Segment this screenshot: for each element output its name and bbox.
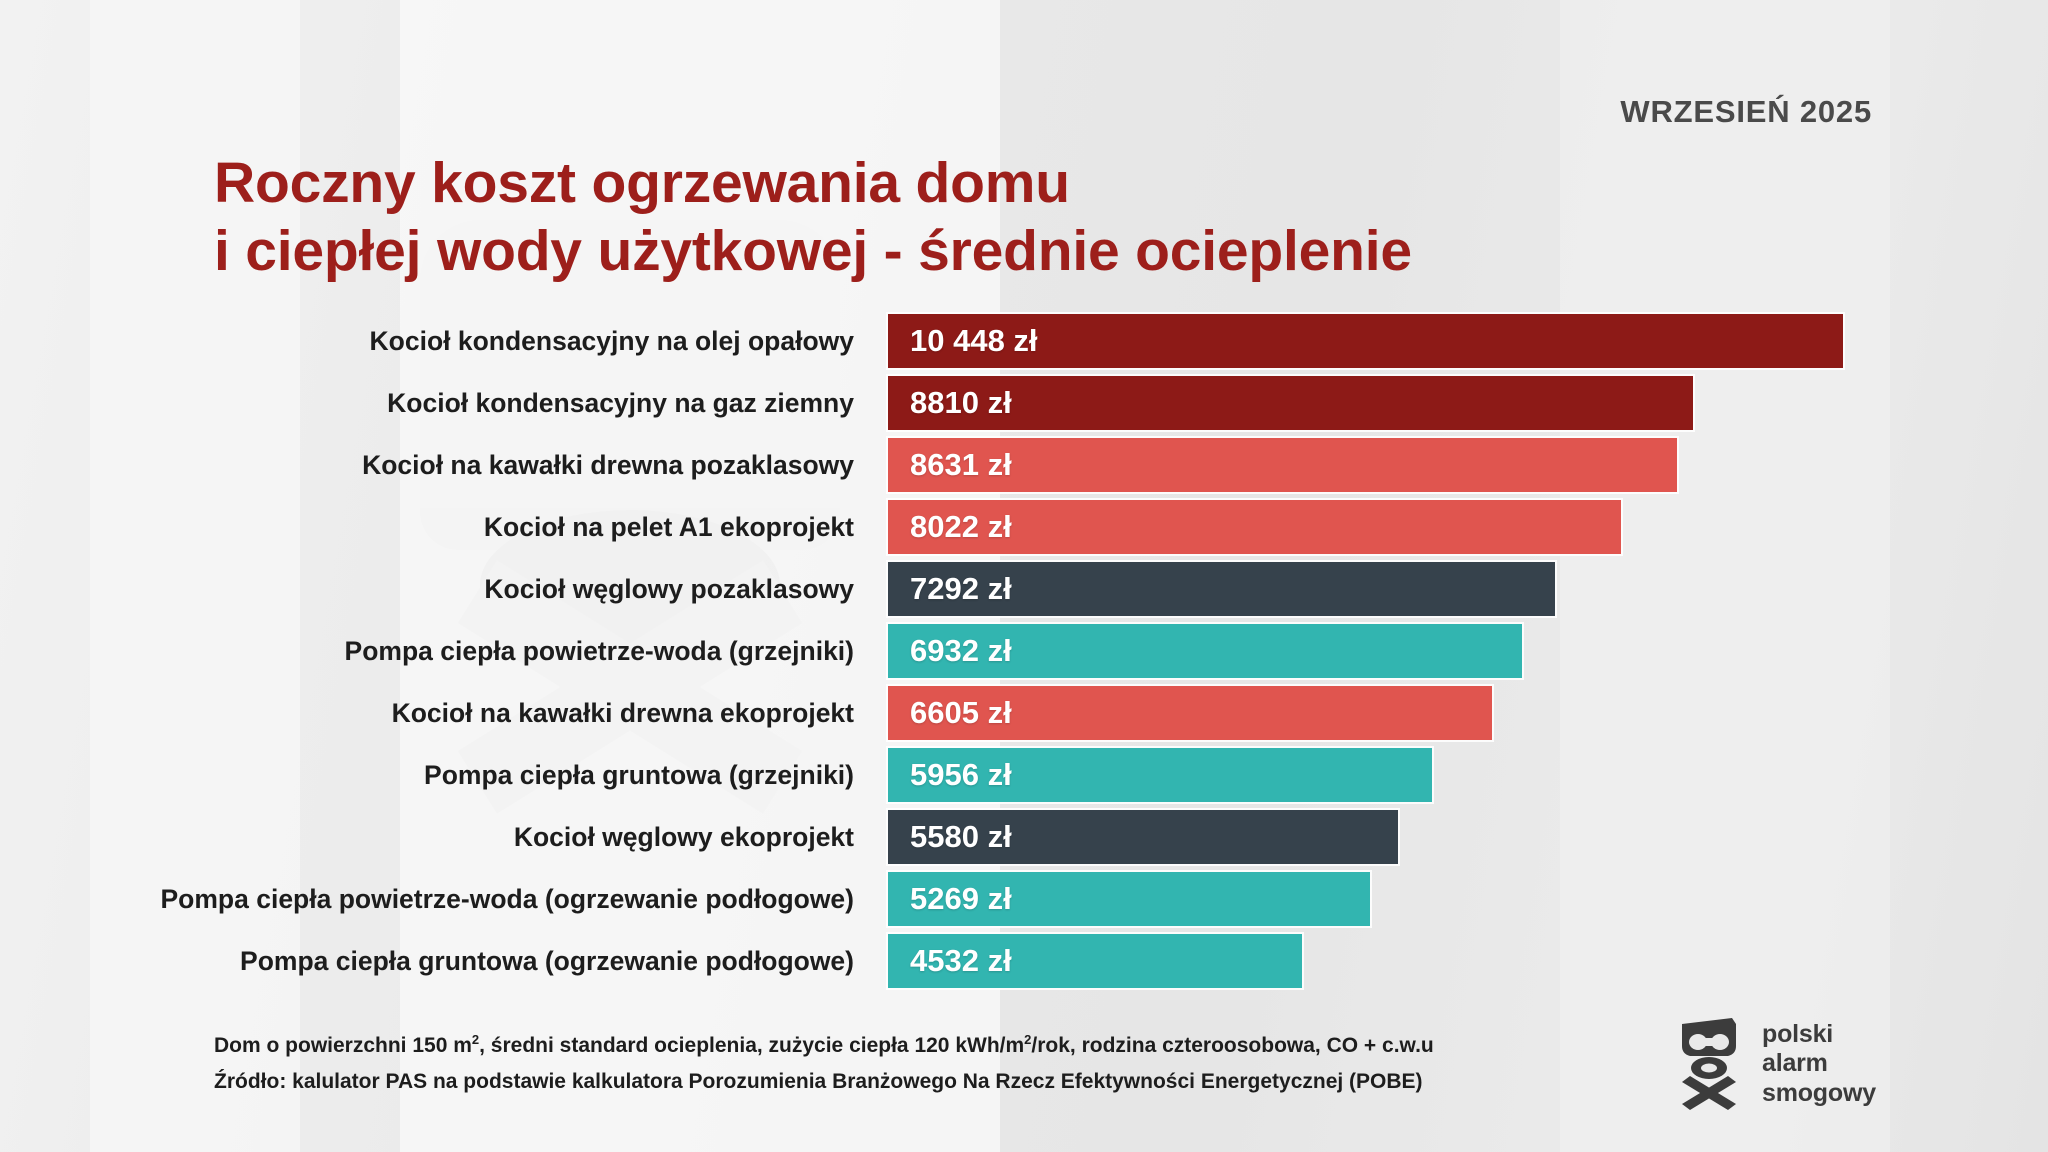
footnote-usage-text: , średni standard ocieplenia, zużycie ci… (479, 1034, 1024, 1057)
bar-value-label: 6932 zł (888, 633, 1012, 669)
bar: 5580 zł (888, 810, 1398, 864)
bar-track: 7292 zł (888, 558, 1988, 620)
bar: 5269 zł (888, 872, 1370, 926)
footnote-tail-text: /rok, rodzina czteroosobowa, CO + c.w.u (1031, 1034, 1433, 1057)
bar-row: Kocioł na kawałki drewna ekoprojekt6605 … (0, 682, 2048, 744)
bar-category-label: Pompa ciepła gruntowa (grzejniki) (0, 744, 872, 806)
bar-category-label: Pompa ciepła powietrze-woda (ogrzewanie … (0, 868, 872, 930)
bar-row: Kocioł na pelet A1 ekoprojekt8022 zł (0, 496, 2048, 558)
bar-track: 8810 zł (888, 372, 1988, 434)
bar: 5956 zł (888, 748, 1432, 802)
bar-value-label: 7292 zł (888, 571, 1012, 607)
bar-value-label: 8810 zł (888, 385, 1012, 421)
gasmask-skull-icon (1676, 1016, 1742, 1112)
bar-track: 8631 zł (888, 434, 1988, 496)
brand-line-1: polski (1762, 1020, 1876, 1050)
bar-track: 5956 zł (888, 744, 1988, 806)
bar-value-label: 6605 zł (888, 695, 1012, 731)
bar-value-label: 5580 zł (888, 819, 1012, 855)
bar-row: Kocioł węglowy pozaklasowy7292 zł (0, 558, 2048, 620)
footnote-source: Źródło: kalulator PAS na podstawie kalku… (214, 1064, 1614, 1100)
bar-track: 6932 zł (888, 620, 1988, 682)
bar: 7292 zł (888, 562, 1555, 616)
infographic-canvas: Roczny koszt ogrzewania domu i ciepłej w… (0, 0, 2048, 1152)
bar-row: Kocioł węglowy ekoprojekt5580 zł (0, 806, 2048, 868)
bar-chart: Kocioł kondensacyjny na olej opałowy10 4… (0, 310, 2048, 992)
bar-category-label: Pompa ciepła gruntowa (ogrzewanie podłog… (0, 930, 872, 992)
bar-row: Pompa ciepła gruntowa (grzejniki)5956 zł (0, 744, 2048, 806)
bar: 8631 zł (888, 438, 1677, 492)
bar: 6605 zł (888, 686, 1492, 740)
bar-value-label: 4532 zł (888, 943, 1012, 979)
bar: 8022 zł (888, 500, 1621, 554)
bar-category-label: Kocioł na kawałki drewna ekoprojekt (0, 682, 872, 744)
bar-value-label: 5269 zł (888, 881, 1012, 917)
date-badge: WRZESIEŃ 2025 (1620, 94, 1872, 130)
header: Roczny koszt ogrzewania domu i ciepłej w… (0, 0, 2048, 250)
bar-track: 5269 zł (888, 868, 1988, 930)
bar-category-label: Pompa ciepła powietrze-woda (grzejniki) (0, 620, 872, 682)
bar: 10 448 zł (888, 314, 1843, 368)
page-title-line2: i ciepłej wody użytkowej - średnie ociep… (214, 218, 1412, 286)
brand-logo: polski alarm smogowy (1676, 1016, 1876, 1112)
bar-row: Kocioł kondensacyjny na olej opałowy10 4… (0, 310, 2048, 372)
footnote-area-text: Dom o powierzchni 150 m (214, 1034, 472, 1057)
bar-row: Pompa ciepła powietrze-woda (grzejniki)6… (0, 620, 2048, 682)
brand-line-3: smogowy (1762, 1079, 1876, 1109)
bar-category-label: Kocioł na pelet A1 ekoprojekt (0, 496, 872, 558)
bar-row: Pompa ciepła powietrze-woda (ogrzewanie … (0, 868, 2048, 930)
bar-category-label: Kocioł kondensacyjny na olej opałowy (0, 310, 872, 372)
bar-track: 6605 zł (888, 682, 1988, 744)
bar-category-label: Kocioł na kawałki drewna pozaklasowy (0, 434, 872, 496)
bar-value-label: 5956 zł (888, 757, 1012, 793)
brand-logo-text: polski alarm smogowy (1762, 1020, 1876, 1109)
page-title-line1: Roczny koszt ogrzewania domu (214, 151, 1070, 215)
footnote-assumptions: Dom o powierzchni 150 m2, średni standar… (214, 1028, 1614, 1064)
brand-line-2: alarm (1762, 1049, 1876, 1079)
bar: 6932 zł (888, 624, 1522, 678)
bar-category-label: Kocioł kondensacyjny na gaz ziemny (0, 372, 872, 434)
bar-value-label: 8631 zł (888, 447, 1012, 483)
footnotes: Dom o powierzchni 150 m2, średni standar… (214, 1028, 1614, 1100)
bar-category-label: Kocioł węglowy pozaklasowy (0, 558, 872, 620)
bar: 8810 zł (888, 376, 1693, 430)
bar-row: Kocioł na kawałki drewna pozaklasowy8631… (0, 434, 2048, 496)
bar-track: 5580 zł (888, 806, 1988, 868)
bar-track: 4532 zł (888, 930, 1988, 992)
bar-track: 8022 zł (888, 496, 1988, 558)
bar-row: Kocioł kondensacyjny na gaz ziemny8810 z… (0, 372, 2048, 434)
bar-track: 10 448 zł (888, 310, 1988, 372)
bar-category-label: Kocioł węglowy ekoprojekt (0, 806, 872, 868)
bar-value-label: 10 448 zł (888, 323, 1038, 359)
bar-row: Pompa ciepła gruntowa (ogrzewanie podłog… (0, 930, 2048, 992)
bar: 4532 zł (888, 934, 1302, 988)
bar-value-label: 8022 zł (888, 509, 1012, 545)
